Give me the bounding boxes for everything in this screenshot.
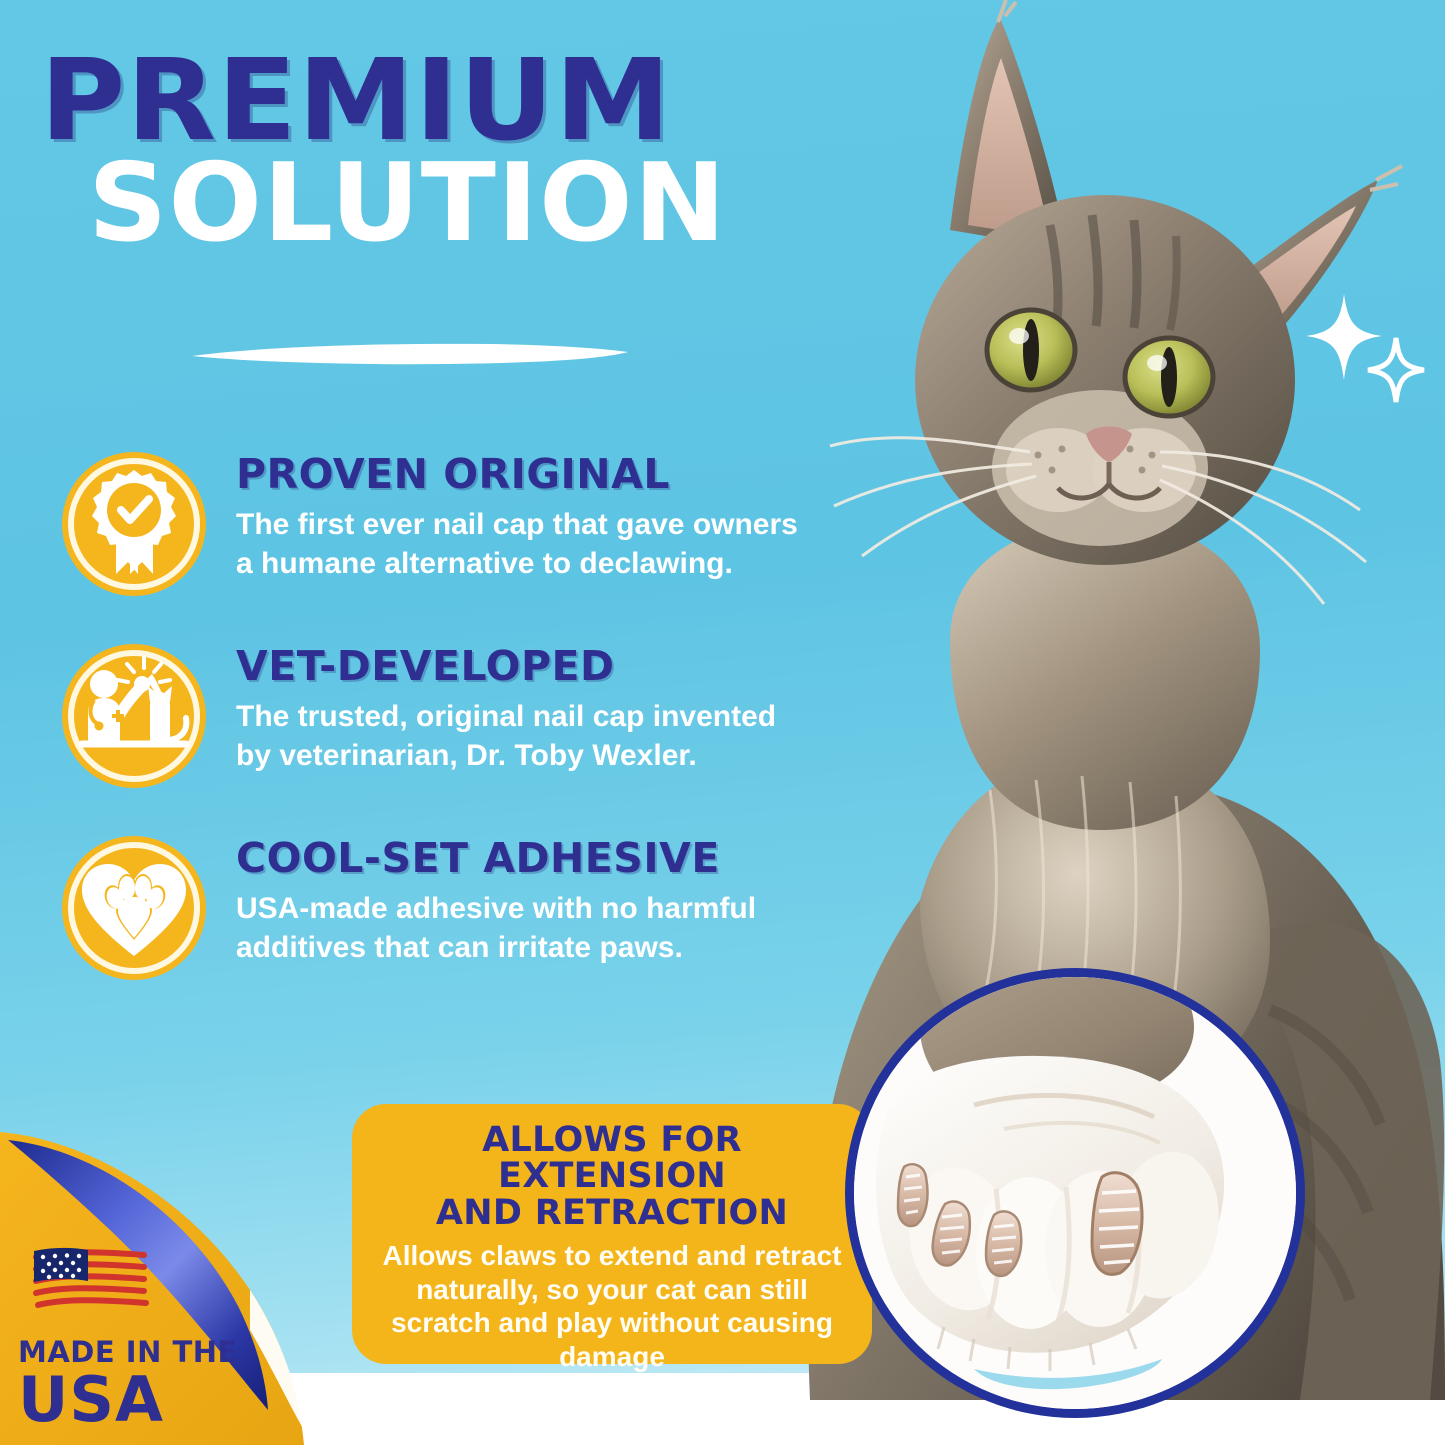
feature-text: COOL-SET ADHESIVE USA-made adhesive with… bbox=[236, 832, 818, 967]
heart-paw-icon bbox=[58, 832, 210, 984]
made-in-usa-text: MADE IN THE USA bbox=[18, 1338, 238, 1431]
callout-body: Allows claws to extend and retract natur… bbox=[374, 1239, 850, 1373]
sparkle-star-outline-icon bbox=[1368, 338, 1424, 402]
headline-line-solution: SOLUTION bbox=[88, 150, 855, 258]
extension-retraction-callout: ALLOWS FOR EXTENSION AND RETRACTION Allo… bbox=[352, 1104, 872, 1364]
feature-item: PROVEN ORIGINAL The first ever nail cap … bbox=[58, 448, 818, 600]
callout-title-line1: ALLOWS FOR EXTENSION bbox=[374, 1122, 850, 1195]
feature-text: PROVEN ORIGINAL The first ever nail cap … bbox=[236, 448, 818, 583]
veterinarian-high-five-cat-icon bbox=[58, 640, 210, 792]
callout-title-line2: AND RETRACTION bbox=[374, 1195, 850, 1231]
award-ribbon-icon bbox=[58, 448, 210, 600]
headline-line-premium: PREMIUM bbox=[40, 48, 872, 156]
headline: PREMIUM SOLUTION bbox=[40, 48, 840, 258]
feature-body: The first ever nail cap that gave owners… bbox=[236, 505, 818, 583]
brush-stroke-underline bbox=[190, 340, 630, 366]
feature-title: PROVEN ORIGINAL bbox=[236, 454, 818, 496]
feature-list: PROVEN ORIGINAL The first ever nail cap … bbox=[58, 448, 818, 1024]
usa-label: USA bbox=[18, 1369, 238, 1431]
feature-item: COOL-SET ADHESIVE USA-made adhesive with… bbox=[58, 832, 818, 984]
product-infographic-poster: PREMIUM SOLUTION bbox=[0, 0, 1445, 1445]
feature-body: USA-made adhesive with no harmful additi… bbox=[236, 889, 818, 967]
feature-title: VET-DEVELOPED bbox=[236, 646, 818, 688]
feature-text: VET-DEVELOPED The trusted, original nail… bbox=[236, 640, 818, 775]
cat-paw-with-nail-caps-photo bbox=[845, 968, 1305, 1418]
sparkle-decoration-group bbox=[1300, 290, 1430, 410]
usa-flag-icon bbox=[30, 1245, 150, 1317]
feature-item: VET-DEVELOPED The trusted, original nail… bbox=[58, 640, 818, 792]
feature-body: The trusted, original nail cap invented … bbox=[236, 697, 818, 775]
feature-title: COOL-SET ADHESIVE bbox=[236, 838, 818, 880]
